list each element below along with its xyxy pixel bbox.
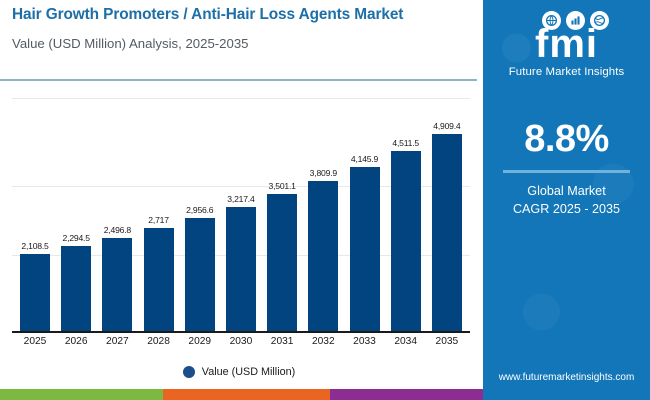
bar: [391, 151, 421, 331]
bar: [185, 218, 215, 331]
bar-value-label: 2,294.5: [63, 233, 90, 243]
x-axis-tick-label: 2025: [18, 336, 52, 347]
bar-value-label: 3,501.1: [268, 181, 295, 191]
bar: [432, 134, 462, 331]
bar: [267, 194, 297, 331]
bar-group: 4,909.4: [430, 90, 464, 331]
bar-group: 2,108.5: [18, 90, 52, 331]
chart-header: Hair Growth Promoters / Anti-Hair Loss A…: [12, 6, 478, 51]
x-axis-tick-label: 2031: [265, 336, 299, 347]
bar: [350, 167, 380, 331]
logo-wordmark: fmi: [483, 28, 650, 61]
cagr-value: 8.8%: [483, 118, 650, 161]
fmi-logo: fmi Future Market Insights: [483, 8, 650, 78]
bar: [226, 207, 256, 331]
bar-group: 2,496.8: [100, 90, 134, 331]
brand-side-panel: fmi Future Market Insights 8.8% Global M…: [483, 0, 650, 400]
bar: [308, 181, 338, 331]
bar: [61, 246, 91, 331]
bar-group: 3,217.4: [224, 90, 258, 331]
x-axis-tick-label: 2034: [389, 336, 423, 347]
cagr-caption-line1: Global Market: [483, 184, 650, 198]
legend-label: Value (USD Million): [202, 366, 295, 378]
x-axis-tick-label: 2035: [430, 336, 464, 347]
chart-panel: Hair Growth Promoters / Anti-Hair Loss A…: [0, 0, 478, 388]
bar: [144, 228, 174, 331]
bar-group: 4,511.5: [389, 90, 423, 331]
bar-group: 2,294.5: [59, 90, 93, 331]
bar-series: 2,108.52,294.52,496.82,7172,956.63,217.4…: [12, 90, 470, 331]
x-axis-tick-label: 2033: [348, 336, 382, 347]
logo-tagline: Future Market Insights: [483, 66, 650, 78]
header-divider: [0, 79, 477, 81]
x-axis-tick-label: 2027: [100, 336, 134, 347]
x-axis-tick-label: 2032: [306, 336, 340, 347]
bar-value-label: 2,108.5: [21, 241, 48, 251]
cagr-divider: [503, 170, 630, 173]
bar-group: 3,809.9: [306, 90, 340, 331]
cagr-block: 8.8% Global Market CAGR 2025 - 2035: [483, 118, 650, 216]
x-axis-tick-label: 2030: [224, 336, 258, 347]
website-url: www.futuremarketinsights.com: [483, 372, 650, 383]
bar-value-label: 3,217.4: [227, 194, 254, 204]
x-axis-tick-label: 2028: [142, 336, 176, 347]
bar-value-label: 4,145.9: [351, 154, 378, 164]
bottom-color-strip: [0, 389, 483, 400]
x-axis-line: [12, 331, 470, 333]
chart-infographic: Hair Growth Promoters / Anti-Hair Loss A…: [0, 0, 650, 400]
page-title: Hair Growth Promoters / Anti-Hair Loss A…: [12, 6, 478, 24]
cagr-caption-line2: CAGR 2025 - 2035: [483, 202, 650, 216]
bar-value-label: 2,496.8: [104, 225, 131, 235]
bar-value-label: 4,909.4: [433, 121, 460, 131]
strip-segment-green: [0, 389, 163, 400]
x-axis-tick-label: 2026: [59, 336, 93, 347]
bar-value-label: 2,956.6: [186, 205, 213, 215]
x-axis-labels: 2025202620272028202920302031203220332034…: [12, 336, 470, 347]
plot-area: 2,108.52,294.52,496.82,7172,956.63,217.4…: [12, 90, 470, 333]
bar-group: 2,956.6: [183, 90, 217, 331]
x-axis-tick-label: 2029: [183, 336, 217, 347]
bar: [102, 238, 132, 331]
strip-segment-orange: [163, 389, 330, 400]
bar-value-label: 4,511.5: [392, 138, 419, 148]
bar-group: 4,145.9: [348, 90, 382, 331]
legend-marker-icon: [183, 366, 195, 378]
chart-subtitle: Value (USD Million) Analysis, 2025-2035: [12, 36, 478, 51]
bar-value-label: 2,717: [148, 215, 169, 225]
bar-value-label: 3,809.9: [310, 168, 337, 178]
bar-group: 2,717: [142, 90, 176, 331]
bar-group: 3,501.1: [265, 90, 299, 331]
strip-segment-purple: [330, 389, 483, 400]
bar: [20, 254, 50, 331]
chart-legend: Value (USD Million): [0, 366, 478, 378]
